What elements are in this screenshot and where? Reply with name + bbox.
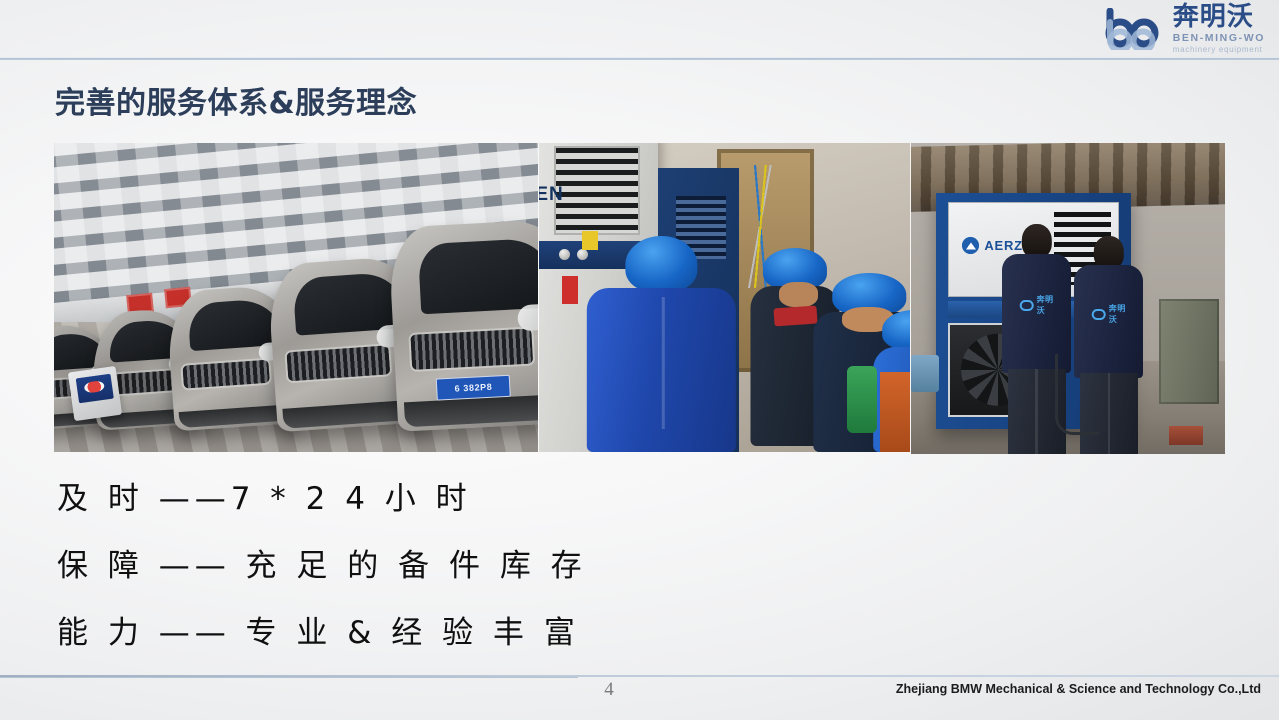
uniform-logo-badge: 奔明沃: [1092, 303, 1127, 325]
blue-hard-hat: [626, 236, 697, 292]
red-neck-scarf: [773, 306, 817, 327]
slide-title: 完善的服务体系&服务理念: [55, 78, 417, 122]
bo-monogram-icon: [1102, 8, 1166, 50]
slide-header: 奔明沃 BEN-MING-WO machinery equipment: [0, 0, 1279, 59]
photo-fleet-of-service-vehicles: 6 382P8: [54, 143, 538, 452]
parking-sign-stand: [68, 365, 123, 421]
no-parking-sign: [75, 373, 113, 402]
parked-car-foreground: 6 382P8: [388, 219, 538, 432]
warning-sticker: [562, 276, 578, 304]
technician-foreground: [587, 236, 735, 452]
photo-aerzen-blower-maintenance: AERZEN 奔明沃: [911, 143, 1225, 454]
green-equipment: [847, 366, 877, 434]
blue-work-jacket: [587, 288, 735, 452]
company-footer-text: Zhejiang BMW Mechanical & Science and Te…: [896, 682, 1261, 696]
blue-pipe: [911, 355, 939, 392]
footer-divider-secondary: [0, 677, 578, 678]
bumper: [404, 394, 538, 427]
logo-wordmark: 奔明沃 BEN-MING-WO machinery equipment: [1173, 4, 1265, 54]
blue-hard-hat: [882, 310, 910, 350]
service-principles-list: 及 时 ——7 * 2 4 小 时 保 障 —— 充 足 的 备 件 库 存 能…: [57, 473, 587, 674]
service-team-scene: EN: [539, 143, 910, 452]
orange-object: [880, 372, 910, 452]
front-grille: [182, 360, 270, 390]
ventilation-grille: [554, 146, 640, 234]
header-divider: [0, 57, 1279, 60]
blower-maintenance-scene: AERZEN 奔明沃: [911, 143, 1225, 454]
service-principle-line: 能 力 —— 专 业 & 经 验 丰 富: [57, 607, 587, 652]
front-grille: [286, 346, 390, 381]
bo-monogram-icon: [1092, 309, 1106, 320]
logo-chinese-name: 奔明沃: [1173, 4, 1265, 30]
front-grille: [410, 329, 533, 370]
machine-brand-label: EN: [539, 184, 564, 206]
uniform-brand-text: 奔明沃: [1109, 303, 1126, 325]
slide-canvas: 奔明沃 BEN-MING-WO machinery equipment 完善的服…: [0, 0, 1279, 720]
uniform-logo-badge: 奔明沃: [1019, 294, 1054, 316]
photo-on-site-technical-team: EN: [539, 143, 910, 452]
electrical-box: [1159, 299, 1219, 405]
service-hose: [1055, 354, 1099, 435]
service-principle-line: 保 障 —— 充 足 的 备 件 库 存: [57, 540, 587, 585]
aerzen-logo-icon: [962, 237, 979, 254]
company-logo: 奔明沃 BEN-MING-WO machinery equipment: [1102, 4, 1265, 54]
fleet-scene: 6 382P8: [54, 143, 538, 452]
windshield: [418, 238, 538, 314]
technician-face: [779, 282, 818, 308]
logo-tagline: machinery equipment: [1173, 46, 1265, 54]
photo-strip: 6 382P8 EN: [54, 143, 1225, 452]
logo-romanized-name: BEN-MING-WO: [1173, 33, 1265, 44]
uniform-brand-text: 奔明沃: [1037, 294, 1054, 316]
bo-monogram-icon: [1019, 300, 1033, 311]
service-principle-line: 及 时 ——7 * 2 4 小 时: [57, 473, 587, 518]
brick-on-ground: [1169, 426, 1204, 445]
page-number: 4: [596, 679, 622, 701]
control-knob: [559, 249, 570, 260]
